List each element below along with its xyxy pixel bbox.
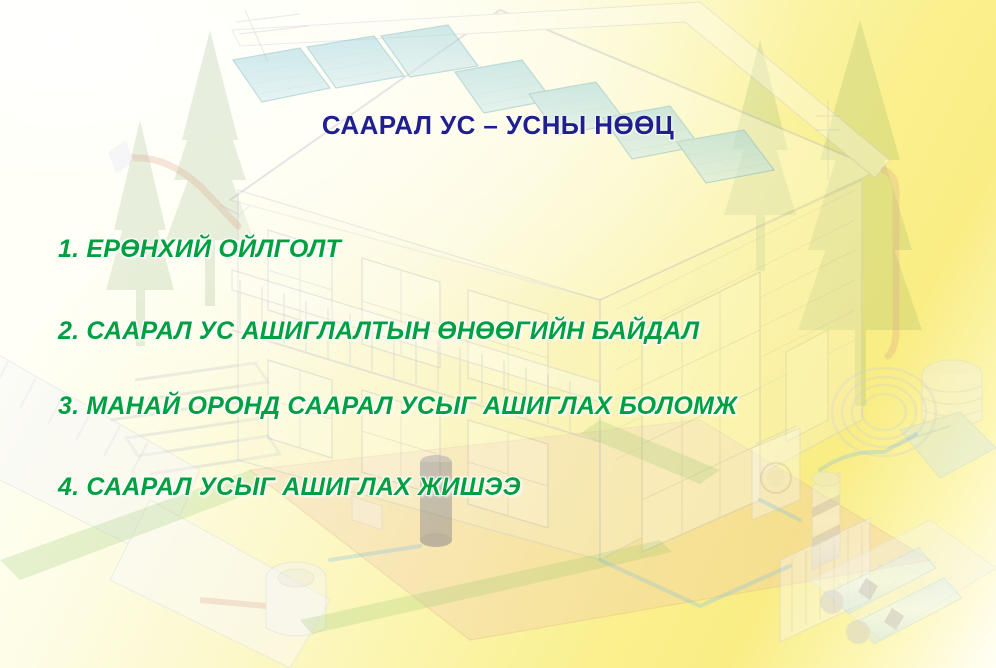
agenda-item-2[interactable]: 2. СААРАЛ УС АШИГЛАЛТЫН ӨНӨӨГИЙН БАЙДАЛ [58, 317, 699, 346]
agenda-item-1[interactable]: 1. ЕРӨНХИЙ ОЙЛГОЛТ [58, 235, 341, 264]
agenda-item-3[interactable]: 3. МАНАЙ ОРОНД СААРАЛ УСЫГ АШИГЛАХ БОЛОМ… [58, 392, 737, 421]
agenda-list: 1. ЕРӨНХИЙ ОЙЛГОЛТ 2. СААРАЛ УС АШИГЛАЛТ… [0, 0, 996, 668]
slide: СААРАЛ УС – УСНЫ НӨӨЦ 1. ЕРӨНХИЙ ОЙЛГОЛТ… [0, 0, 996, 668]
slide-content: СААРАЛ УС – УСНЫ НӨӨЦ 1. ЕРӨНХИЙ ОЙЛГОЛТ… [0, 0, 996, 668]
agenda-item-4[interactable]: 4. СААРАЛ УСЫГ АШИГЛАХ ЖИШЭЭ [58, 473, 521, 502]
